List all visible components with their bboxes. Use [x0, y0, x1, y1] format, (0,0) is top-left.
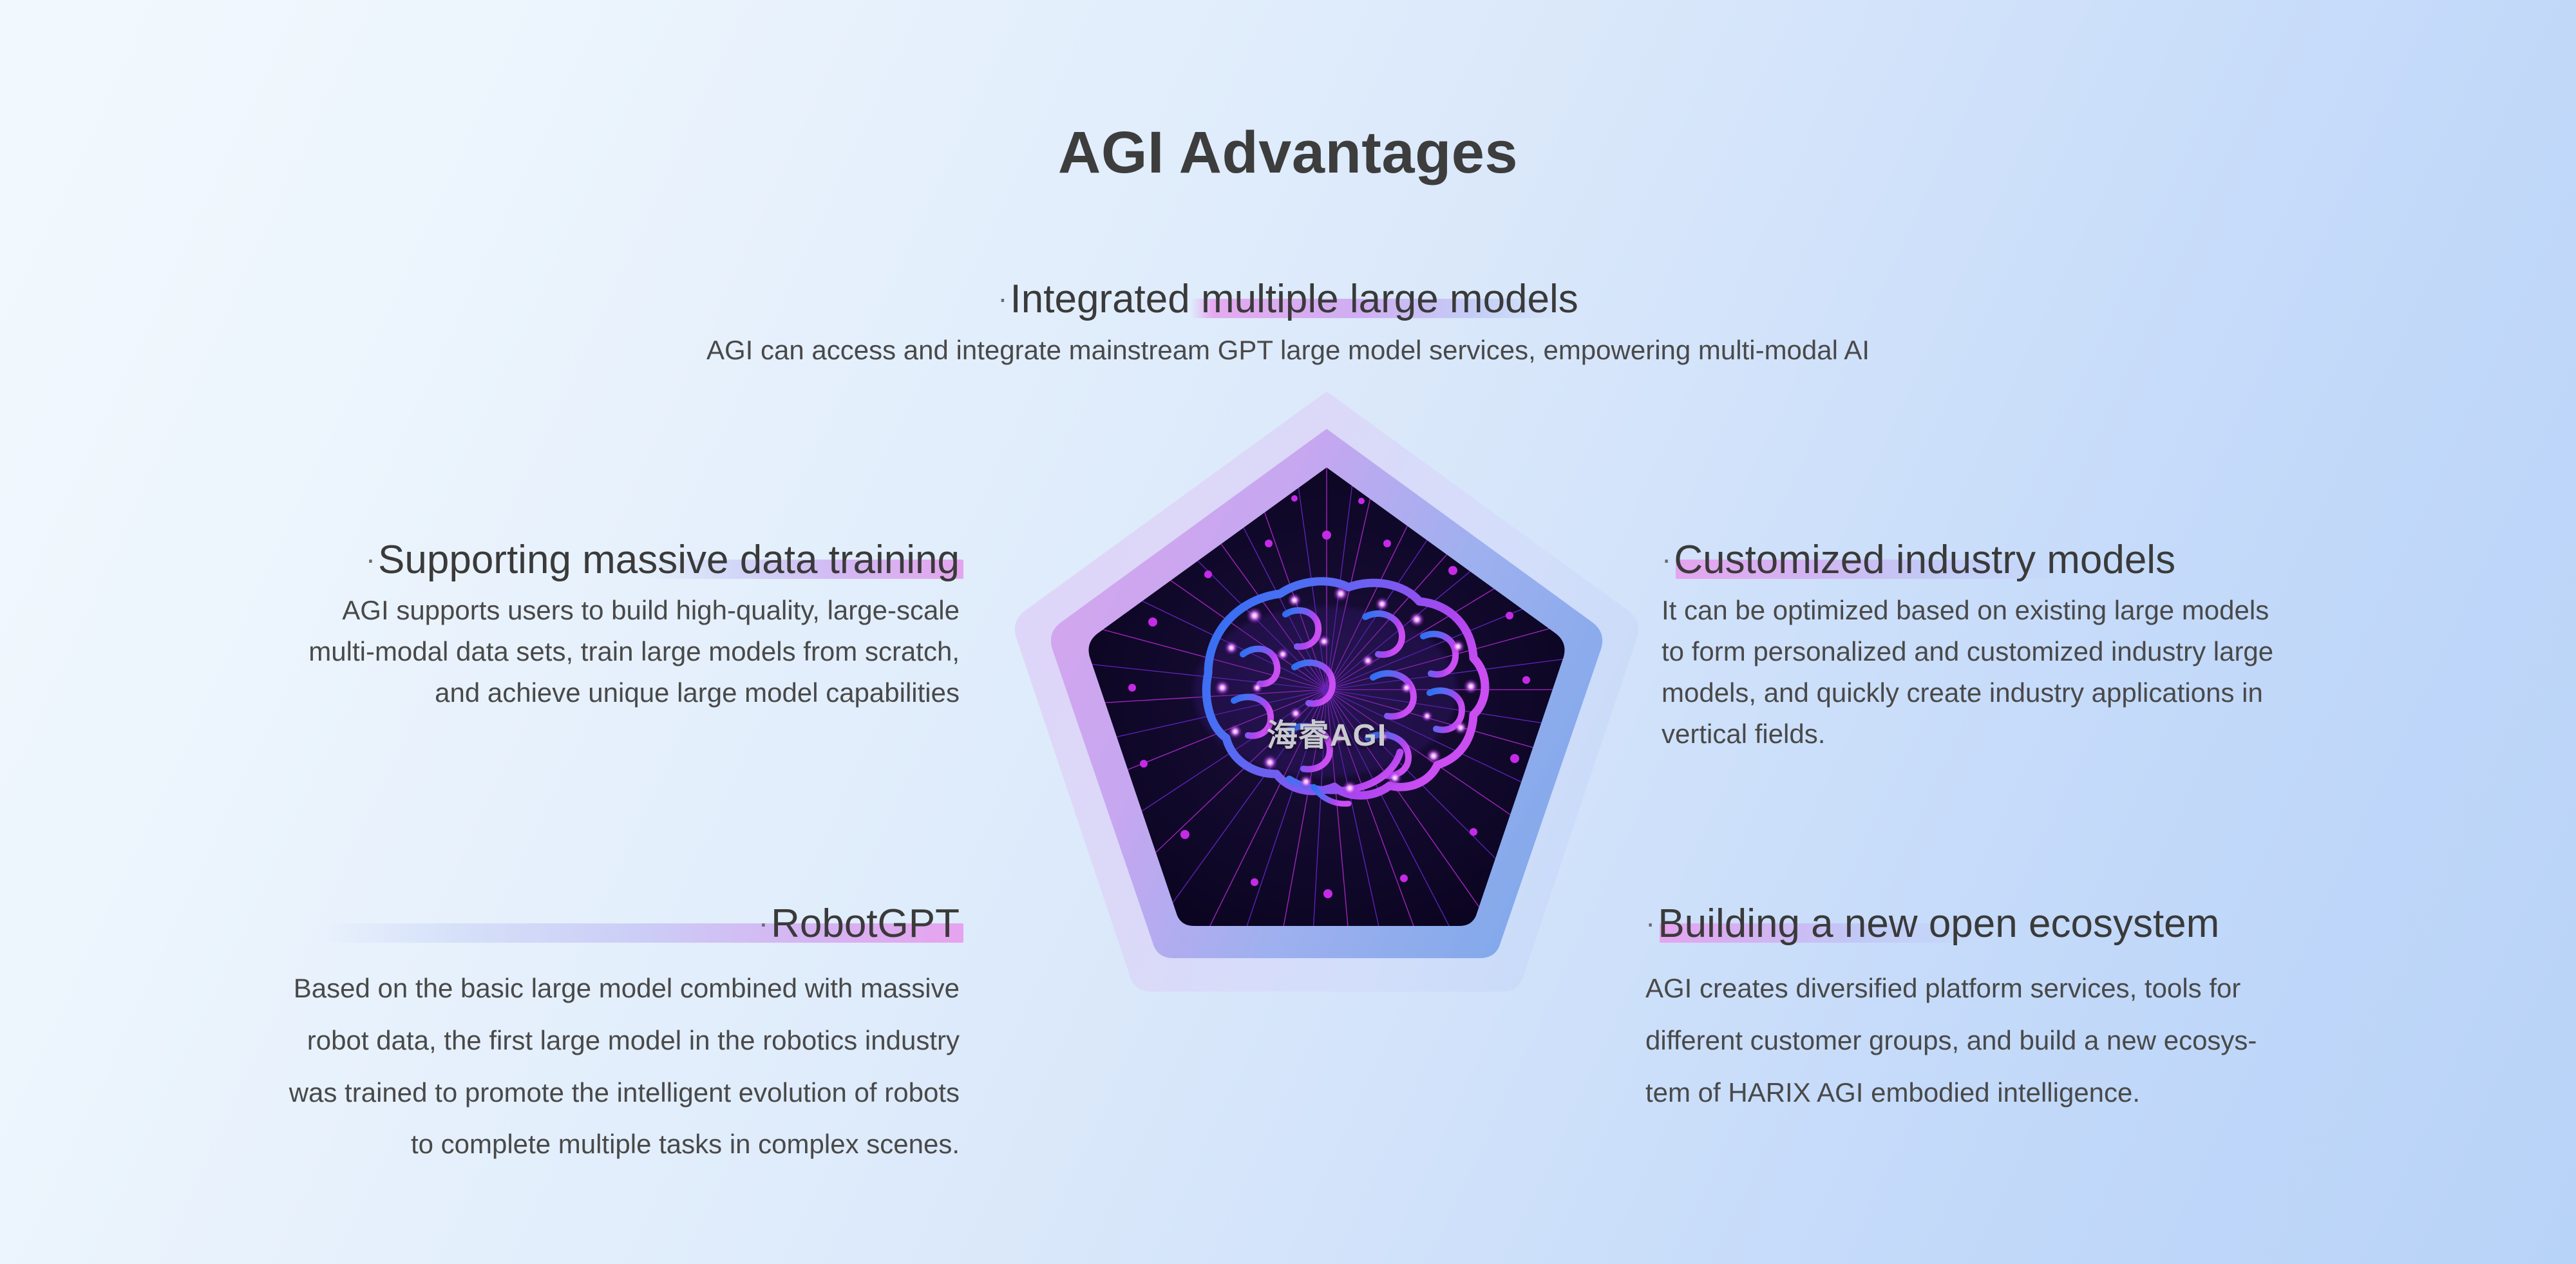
body-line: AGI can access and integrate mainstream …: [0, 330, 2576, 370]
body-line: models, and quickly create industry appl…: [1662, 672, 2550, 713]
pentagon-core: [1082, 461, 1571, 926]
advantage-heading-text: Supporting massive data training: [378, 538, 960, 582]
advantage-heading: ·Customized industry models: [1662, 538, 2175, 582]
advantage-heading-text: RobotGPT: [771, 901, 960, 946]
advantage-block-integrated-multiple-large-models: ·Integrated multiple large models AGI ca…: [0, 277, 2576, 371]
body-line: tem of HARIX AGI embodied intelligence.: [1645, 1067, 2560, 1119]
pentagon-core-artwork: [1082, 461, 1571, 926]
advantage-body: Based on the basic large model combined …: [39, 963, 960, 1171]
advantage-body: AGI creates diversified platform service…: [1645, 963, 2560, 1118]
body-line: different customer groups, and build a n…: [1645, 1015, 2560, 1067]
bullet-icon: ·: [759, 907, 768, 940]
central-emblem: 海睿AGI: [1005, 380, 1649, 1101]
page-title: AGI Advantages: [0, 119, 2576, 187]
advantage-block-building-a-new-open-ecosystem: ·Building a new open ecosystem AGI creat…: [1645, 901, 2560, 1118]
body-line: It can be optimized based on existing la…: [1662, 590, 2550, 631]
advantage-heading-text: Integrated multiple large models: [1010, 277, 1578, 321]
advantage-block-customized-industry-models: ·Customized industry models It can be op…: [1662, 538, 2550, 755]
body-line: was trained to promote the intelligent e…: [39, 1067, 960, 1119]
body-line: to form personalized and customized indu…: [1662, 631, 2550, 672]
advantage-heading: ·RobotGPT: [759, 901, 960, 946]
body-line: and achieve unique large model capabilit…: [39, 672, 960, 713]
body-line: to complete multiple tasks in complex sc…: [39, 1118, 960, 1171]
advantage-body: AGI can access and integrate mainstream …: [0, 330, 2576, 370]
bullet-icon: ·: [1662, 543, 1671, 576]
advantage-heading: ·Building a new open ecosystem: [1645, 901, 2219, 946]
infographic-canvas: AGI Advantages ·Integrated multiple larg…: [0, 0, 2576, 1264]
advantage-block-robotgpt: ·RobotGPT Based on the basic large model…: [39, 901, 960, 1171]
body-line: multi-modal data sets, train large model…: [39, 631, 960, 672]
bullet-icon: ·: [1645, 907, 1655, 940]
advantage-body: It can be optimized based on existing la…: [1662, 590, 2550, 754]
body-line: vertical fields.: [1662, 713, 2550, 755]
advantage-block-supporting-massive-data-training: ·Supporting massive data training AGI su…: [39, 538, 960, 713]
advantage-heading-text: Building a new open ecosystem: [1658, 901, 2219, 946]
advantage-body: AGI supports users to build high-quality…: [39, 590, 960, 713]
advantage-heading-text: Customized industry models: [1674, 538, 2175, 582]
brand-label: 海睿AGI: [1005, 710, 1649, 755]
body-line: AGI supports users to build high-quality…: [39, 590, 960, 631]
body-line: Based on the basic large model combined …: [39, 963, 960, 1015]
body-line: robot data, the first large model in the…: [39, 1015, 960, 1067]
advantage-heading: ·Integrated multiple large models: [998, 277, 1578, 321]
body-line: AGI creates diversified platform service…: [1645, 963, 2560, 1015]
bullet-icon: ·: [998, 282, 1007, 316]
advantage-heading: ·Supporting massive data training: [366, 538, 960, 582]
bullet-icon: ·: [366, 543, 375, 576]
